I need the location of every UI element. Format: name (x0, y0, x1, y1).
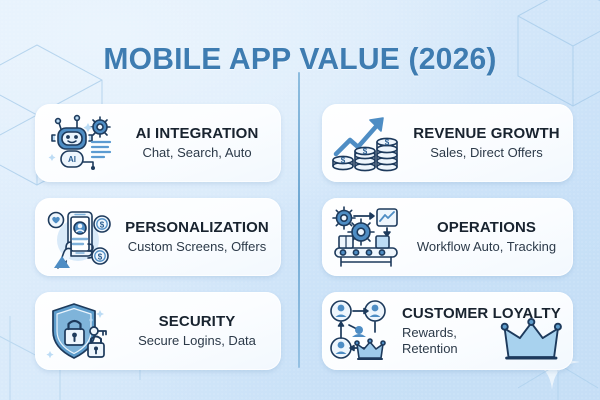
card-text: REVENUE GROWTH Sales, Direct Offers (406, 125, 573, 162)
robot-gear-icon: AI (41, 107, 119, 179)
svg-text:$: $ (98, 253, 103, 262)
shield-lock-icon (41, 295, 119, 367)
card-subtitle: Rewards, Retention (402, 325, 482, 358)
infographic-canvas: MOBILE APP VALUE (2026) (0, 0, 600, 400)
card-text: AI INTEGRATION Chat, Search, Auto (119, 125, 281, 162)
card-subtitle-line-2: Retention (402, 341, 458, 356)
card-text: OPERATIONS Workflow Auto, Tracking (406, 219, 573, 256)
card-text: CUSTOMER LOYALTY Rewards, Retention (400, 305, 573, 358)
svg-text:$: $ (363, 147, 368, 156)
crown-icon (499, 317, 573, 363)
card-text: PERSONALIZATION Custom Screens, Offers (119, 219, 281, 256)
card-revenue-growth[interactable]: $ $ (322, 104, 573, 182)
svg-text:$: $ (100, 221, 105, 230)
card-title: OPERATIONS (437, 219, 536, 236)
card-customer-loyalty[interactable]: CUSTOMER LOYALTY Rewards, Retention (322, 292, 573, 370)
card-security[interactable]: SECURITY Secure Logins, Data (35, 292, 281, 370)
card-subtitle-line-1: Rewards, (402, 325, 457, 340)
right-column: $ $ (322, 104, 573, 386)
card-subtitle: Workflow Auto, Tracking (417, 239, 556, 255)
card-subtitle: Custom Screens, Offers (128, 239, 266, 255)
card-subtitle: Secure Logins, Data (138, 333, 256, 349)
card-subtitle: Sales, Direct Offers (430, 145, 542, 161)
svg-text:$: $ (385, 138, 390, 147)
card-title: AI INTEGRATION (136, 125, 259, 142)
hand-phone-profile-icon: $ $ (41, 201, 119, 273)
card-subtitle: Chat, Search, Auto (142, 145, 251, 161)
page-title: MOBILE APP VALUE (2026) (9, 41, 591, 77)
growth-arrow-coins-icon: $ $ (328, 107, 406, 179)
card-operations[interactable]: OPERATIONS Workflow Auto, Tracking (322, 198, 573, 276)
svg-text:AI: AI (68, 155, 76, 164)
conveyor-gears-icon (328, 201, 406, 273)
left-column: AI (35, 104, 281, 386)
card-title: REVENUE GROWTH (413, 125, 559, 142)
card-ai-integration[interactable]: AI (35, 104, 281, 182)
card-title: SECURITY (159, 313, 236, 330)
users-network-crown-icon (326, 295, 400, 367)
svg-text:$: $ (341, 156, 346, 165)
card-title: PERSONALIZATION (125, 219, 269, 236)
column-divider (298, 72, 300, 368)
card-text: SECURITY Secure Logins, Data (119, 313, 281, 350)
card-personalization[interactable]: $ $ PERSONALIZATION Custom Screens, Offe… (35, 198, 281, 276)
